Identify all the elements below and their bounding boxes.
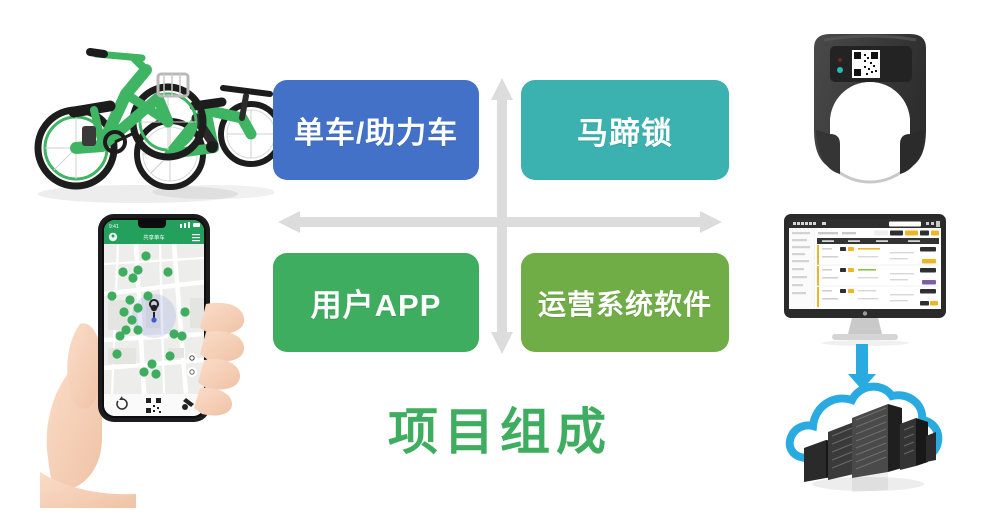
poster-canvas: 9:41 共享单车 [0,0,1000,519]
quadrant-label-bike: 单车/助力车 [294,108,458,152]
cloud-servers-graphic [782,340,952,500]
vertical-double-arrow [489,78,515,354]
desktop-monitor-photo [770,212,960,348]
status-led-icon [837,67,843,73]
hand-holding-phone-photo: 9:41 共享单车 [40,208,272,508]
quadrant-label-ops: 运营系统软件 [538,283,712,323]
quadrant-box-app[interactable]: 用户APP [273,253,479,352]
quadrant-box-bike[interactable]: 单车/助力车 [273,80,479,180]
svg-text:9:41: 9:41 [109,224,119,230]
shared-bicycles-photo [18,14,274,210]
quadrant-box-lock[interactable]: 马蹄锁 [521,80,729,180]
smart-horseshoe-lock-photo [780,18,960,198]
quadrant-box-ops[interactable]: 运营系统软件 [521,253,729,352]
quadrant-label-lock: 马蹄锁 [577,108,673,153]
svg-text:共享单车: 共享单车 [143,234,165,242]
quadrant-label-app: 用户APP [311,280,442,325]
